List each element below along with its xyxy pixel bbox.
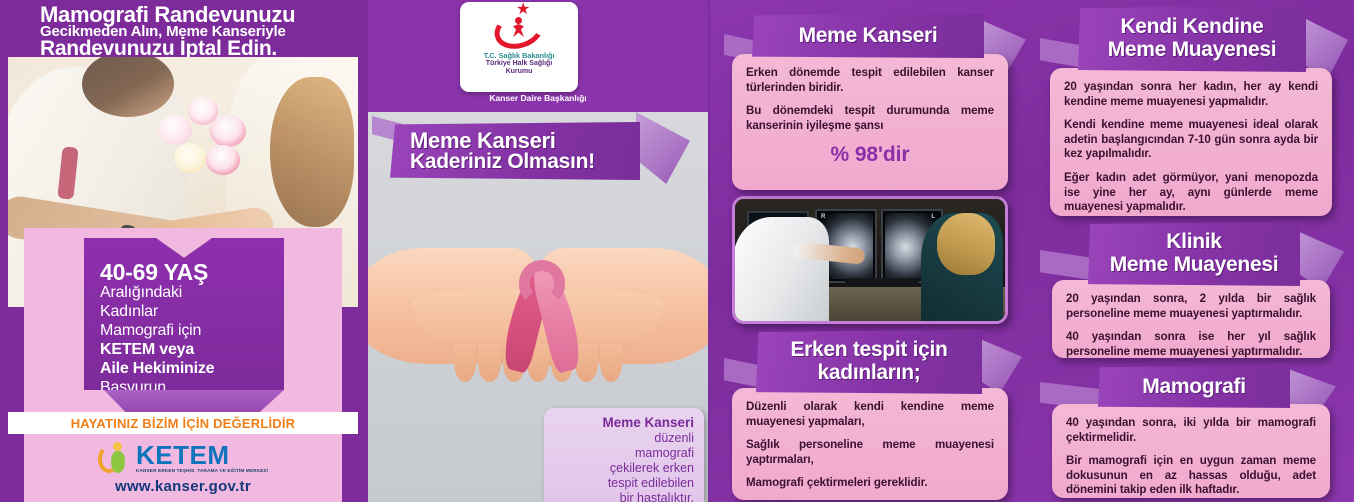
card-title-line-2: Meme Muayenesi <box>1108 39 1277 62</box>
mammogram-photo-card: R L <box>732 196 1008 324</box>
card-title-line-1: Meme Kanseri <box>799 25 938 48</box>
ketem-figure-icon <box>98 441 132 475</box>
card-body: Düzenli olarak kendi kendine meme muayen… <box>732 388 1008 500</box>
card-title-line-1: Mamografi <box>1142 376 1245 399</box>
card-mamografi: Mamografi 40 yaşından sonra, iki yılda b… <box>1040 366 1340 502</box>
card-wing-left <box>1040 38 1084 68</box>
ministry-line-3: Kurumu <box>506 68 533 76</box>
note-line-5: bir hastalıktır. <box>554 491 694 502</box>
ministry-line-2: Türkiye Halk Sağlığı <box>486 60 553 68</box>
card-klinik: Klinik Meme Muayenesi 20 yaşından sonra,… <box>1040 222 1340 360</box>
card-paragraph: Eğer kadın adet görmüyor, yani menopozda… <box>1064 171 1318 215</box>
card-wing-left <box>724 358 762 388</box>
left-headline-block: Mamografi Randevunuzu Gecikmeden Alın, M… <box>0 0 366 57</box>
card-erken-tespit: Erken tespit için kadınların; Düzenli ol… <box>724 330 1014 502</box>
ribbon-line-2: Kaderiniz Olmasın! <box>410 150 595 174</box>
card-body: 40 yaşından sonra, iki yılda bir mamogra… <box>1052 404 1330 498</box>
info-line-2: Kadınlar <box>100 303 272 322</box>
note-line-2: mamografi <box>554 446 694 461</box>
ketem-url[interactable]: www.kanser.gov.tr <box>115 478 251 495</box>
card-paragraph: Mamografi çektirmeleri gereklidir. <box>746 476 994 491</box>
note-line-3: çekilerek erken <box>554 461 694 476</box>
pink-ribbon-icon <box>510 262 574 372</box>
info-line-4: KETEM veya <box>100 341 272 360</box>
ketem-wordmark: KETEM <box>136 443 268 468</box>
card-paragraph: 20 yaşından sonra, 2 yılda bir sağlık pe… <box>1066 292 1316 321</box>
card-header: Meme Kanseri <box>752 14 984 58</box>
keyboard <box>845 278 919 287</box>
card-paragraph: 40 yaşından sonra ise her yıl sağlık per… <box>1066 330 1316 359</box>
info-line-1: Aralığındaki <box>100 284 272 303</box>
poster-root: Mamografi Randevunuzu Gecikmeden Alın, M… <box>0 0 1354 502</box>
card-title-line-1: Erken tespit için <box>790 339 947 362</box>
card-header: Erken tespit için kadınların; <box>756 330 982 394</box>
card-title-line-1: Klinik <box>1166 231 1221 254</box>
note-line-1: düzenli <box>554 431 694 446</box>
ketem-logo-block: KETEM KANSER ERKEN TEŞHİS, TARAMA VE EĞİ… <box>24 434 342 502</box>
center-ribbon-headline: Meme Kanseri Kaderiniz Olmasın! <box>390 122 640 180</box>
card-title-line-2: kadınların; <box>818 362 921 385</box>
doctor-head <box>759 205 797 239</box>
card-kendi-kendine: Kendi Kendine Meme Muayenesi 20 yaşından… <box>1040 6 1340 216</box>
ketem-subtitle: KANSER ERKEN TEŞHİS, TARAMA VE EĞİTİM ME… <box>136 468 268 473</box>
card-title-line-1: Kendi Kendine <box>1120 16 1263 39</box>
card-paragraph: 20 yaşından sonra her kadın, her ay kend… <box>1064 80 1318 109</box>
ministry-line-1: T.C. Sağlık Bakanlığı <box>484 51 555 60</box>
slogan-bar: HAYATINIZ BİZİM İÇİN DEĞERLİDİR <box>8 412 358 434</box>
card-paragraph: Bir mamografi için en uygun zaman meme d… <box>1066 454 1316 498</box>
center-note-box: Meme Kanseri düzenli mamografi çekilerek… <box>544 408 704 502</box>
ministry-logo-card: ★ T.C. Sağlık Bakanlığı Türkiye Halk Sağ… <box>460 2 578 92</box>
ministry-emblem-icon: ★ <box>490 6 548 50</box>
card-wing-left <box>1040 250 1092 280</box>
card-header: Klinik Meme Muayenesi <box>1088 222 1300 286</box>
info-line-5: Aile Hekiminize <box>100 360 272 379</box>
screen-label-right: L <box>931 214 935 220</box>
card-paragraph: Erken dönemde tespit edilebilen kanser t… <box>746 66 994 95</box>
screen-label-left: R <box>821 214 825 220</box>
right-section: Meme Kanseri Erken dönemde tespit edileb… <box>710 0 1354 502</box>
card-body: 20 yaşından sonra her kadın, her ay kend… <box>1050 68 1332 216</box>
department-label: Kanser Daire Başkanlığı <box>368 93 708 103</box>
info-line-3: Mamografi için <box>100 322 272 341</box>
age-range-label: 40-69 YAŞ <box>100 260 272 284</box>
card-meme-kanseri: Meme Kanseri Erken dönemde tespit edileb… <box>724 14 1014 190</box>
note-line-4: tespit edilebilen <box>554 476 694 491</box>
card-body: Erken dönemde tespit edilebilen kanser t… <box>732 54 1008 190</box>
center-panel: ★ T.C. Sağlık Bakanlığı Türkiye Halk Sağ… <box>368 0 708 502</box>
patient-hair <box>937 213 995 275</box>
card-paragraph: 40 yaşından sonra, iki yılda bir mamogra… <box>1066 416 1316 445</box>
age-info-box: 40-69 YAŞ Aralığındaki Kadınlar Mamograf… <box>84 238 284 390</box>
card-title-line-2: Meme Muayenesi <box>1110 254 1279 277</box>
card-paragraph: Düzenli olarak kendi kendine meme muayen… <box>746 400 994 429</box>
survival-rate-highlight: % 98'dir <box>746 142 994 168</box>
card-paragraph: Bu dönemdeki tespit durumunda meme kanse… <box>746 104 994 133</box>
slogan-text: HAYATINIZ BİZİM İÇİN DEĞERLİDİR <box>71 416 296 431</box>
note-title: Meme Kanseri <box>554 415 694 431</box>
card-paragraph: Kendi kendine meme muayenesi ideal olara… <box>1064 118 1318 162</box>
card-header: Kendi Kendine Meme Muayenesi <box>1078 6 1306 72</box>
card-paragraph: Sağlık personeline meme muayenesi yaptır… <box>746 438 994 467</box>
card-body: 20 yaşından sonra, 2 yılda bir sağlık pe… <box>1052 280 1330 358</box>
left-panel: Mamografi Randevunuzu Gecikmeden Alın, M… <box>0 0 366 502</box>
ketem-logo: KETEM KANSER ERKEN TEŞHİS, TARAMA VE EĞİ… <box>98 441 268 475</box>
card-header: Mamografi <box>1098 366 1290 408</box>
